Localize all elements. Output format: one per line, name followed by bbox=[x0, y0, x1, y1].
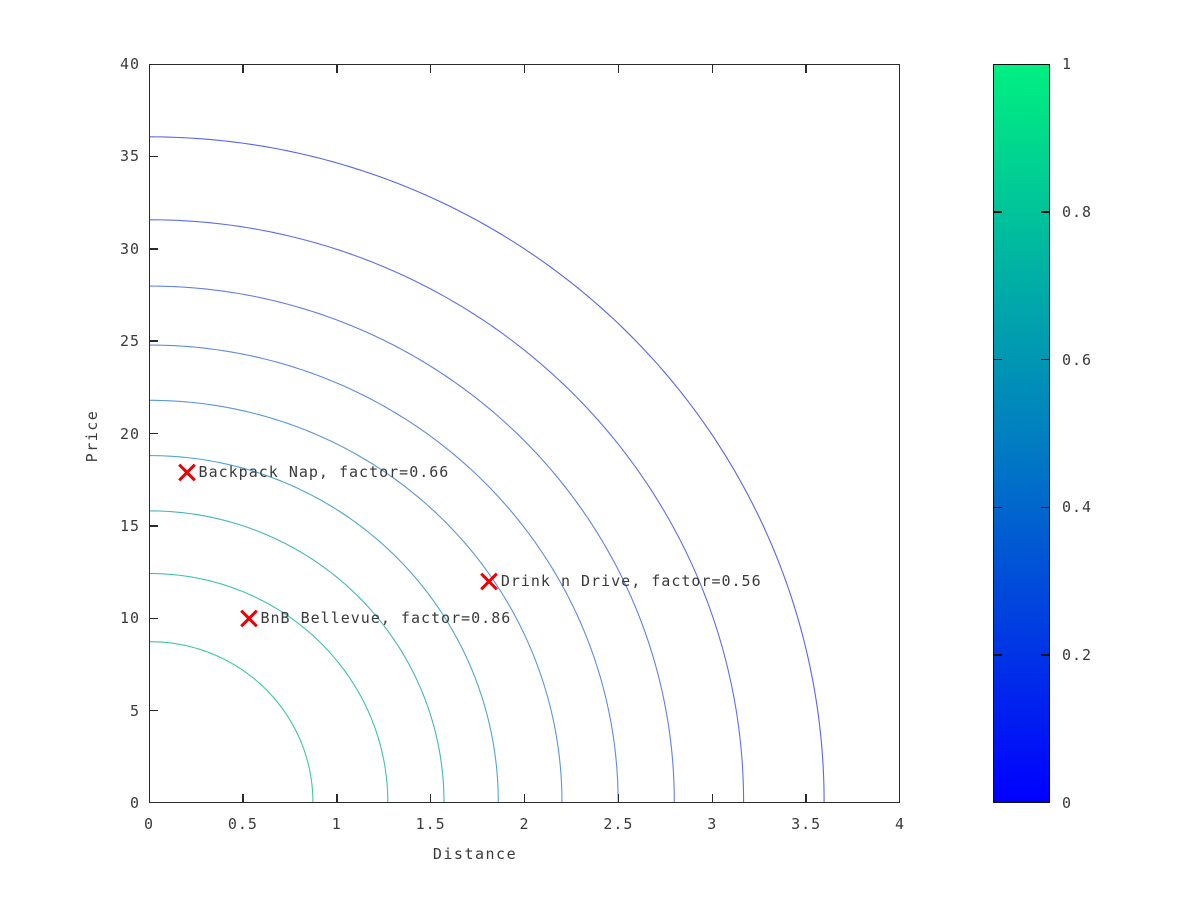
y-tick-mark bbox=[149, 618, 158, 620]
x-tick-mark bbox=[524, 794, 526, 803]
contour-line bbox=[150, 642, 313, 802]
x-tick-mark bbox=[618, 794, 620, 803]
contour-line bbox=[150, 286, 674, 802]
y-tick-mark bbox=[149, 710, 158, 712]
colorbar bbox=[993, 64, 1050, 803]
x-tick-mark-top bbox=[712, 64, 714, 73]
data-marker[interactable]: Drink n Drive, factor=0.56 bbox=[489, 570, 762, 592]
marker-label: BnB Bellevue, factor=0.86 bbox=[261, 609, 512, 627]
plot-area bbox=[149, 64, 900, 803]
x-tick-mark-top bbox=[805, 64, 807, 73]
x-tick-mark-top bbox=[336, 64, 338, 73]
y-tick-mark bbox=[149, 340, 158, 342]
data-marker[interactable]: BnB Bellevue, factor=0.86 bbox=[249, 607, 512, 629]
contour-line bbox=[150, 511, 444, 802]
cross-icon bbox=[238, 607, 260, 629]
colorbar-tick-label: 1 bbox=[1062, 55, 1072, 73]
y-tick-label: 15 bbox=[90, 517, 140, 535]
x-tick-mark bbox=[430, 794, 432, 803]
chart-canvas: 0510152025303540 00.511.522.533.54 Dista… bbox=[0, 0, 1200, 900]
cross-icon bbox=[478, 570, 500, 592]
y-tick-mark bbox=[149, 433, 158, 435]
x-tick-label: 0.5 bbox=[228, 815, 258, 833]
x-tick-label: 4 bbox=[895, 815, 905, 833]
colorbar-tick-label: 0.6 bbox=[1062, 351, 1092, 369]
y-tick-label: 40 bbox=[90, 55, 140, 73]
colorbar-tick-mark bbox=[993, 359, 1002, 361]
colorbar-tick-mark bbox=[993, 211, 1002, 213]
colorbar-gradient bbox=[994, 65, 1049, 802]
x-tick-mark-top bbox=[430, 64, 432, 73]
y-tick-mark bbox=[149, 156, 158, 158]
x-tick-mark bbox=[242, 794, 244, 803]
y-axis-title: Price bbox=[83, 406, 101, 466]
colorbar-tick-mark bbox=[993, 507, 1002, 509]
colorbar-tick-mark bbox=[1041, 359, 1050, 361]
x-tick-label: 0 bbox=[144, 815, 154, 833]
x-tick-mark-top bbox=[242, 64, 244, 73]
colorbar-tick-label: 0 bbox=[1062, 794, 1072, 812]
marker-label: Backpack Nap, factor=0.66 bbox=[199, 463, 450, 481]
colorbar-tick-mark bbox=[993, 654, 1002, 656]
colorbar-tick-label: 0.4 bbox=[1062, 498, 1092, 516]
x-tick-label: 3 bbox=[707, 815, 717, 833]
y-tick-label: 10 bbox=[90, 609, 140, 627]
contour-line bbox=[150, 220, 744, 802]
data-marker[interactable]: Backpack Nap, factor=0.66 bbox=[187, 461, 450, 483]
x-tick-mark bbox=[805, 794, 807, 803]
x-tick-mark bbox=[336, 794, 338, 803]
colorbar-tick-label: 0.2 bbox=[1062, 646, 1092, 664]
y-tick-label: 5 bbox=[90, 702, 140, 720]
y-tick-mark bbox=[149, 525, 158, 527]
contour-lines bbox=[150, 65, 899, 802]
y-tick-label: 30 bbox=[90, 240, 140, 258]
colorbar-tick-mark bbox=[1041, 654, 1050, 656]
y-tick-label: 0 bbox=[90, 794, 140, 812]
x-tick-label: 3.5 bbox=[791, 815, 821, 833]
x-tick-mark bbox=[712, 794, 714, 803]
y-tick-label: 25 bbox=[90, 332, 140, 350]
colorbar-tick-mark bbox=[1041, 211, 1050, 213]
colorbar-tick-mark bbox=[1041, 507, 1050, 509]
colorbar-tick-label: 0.8 bbox=[1062, 203, 1092, 221]
y-tick-mark bbox=[149, 248, 158, 250]
cross-icon bbox=[176, 461, 198, 483]
x-tick-label: 1 bbox=[332, 815, 342, 833]
y-tick-label: 35 bbox=[90, 147, 140, 165]
x-tick-mark-top bbox=[524, 64, 526, 73]
x-tick-label: 2 bbox=[519, 815, 529, 833]
x-axis-title: Distance bbox=[433, 845, 517, 863]
x-tick-mark-top bbox=[618, 64, 620, 73]
x-tick-label: 2.5 bbox=[603, 815, 633, 833]
x-tick-label: 1.5 bbox=[416, 815, 446, 833]
marker-label: Drink n Drive, factor=0.56 bbox=[501, 572, 762, 590]
